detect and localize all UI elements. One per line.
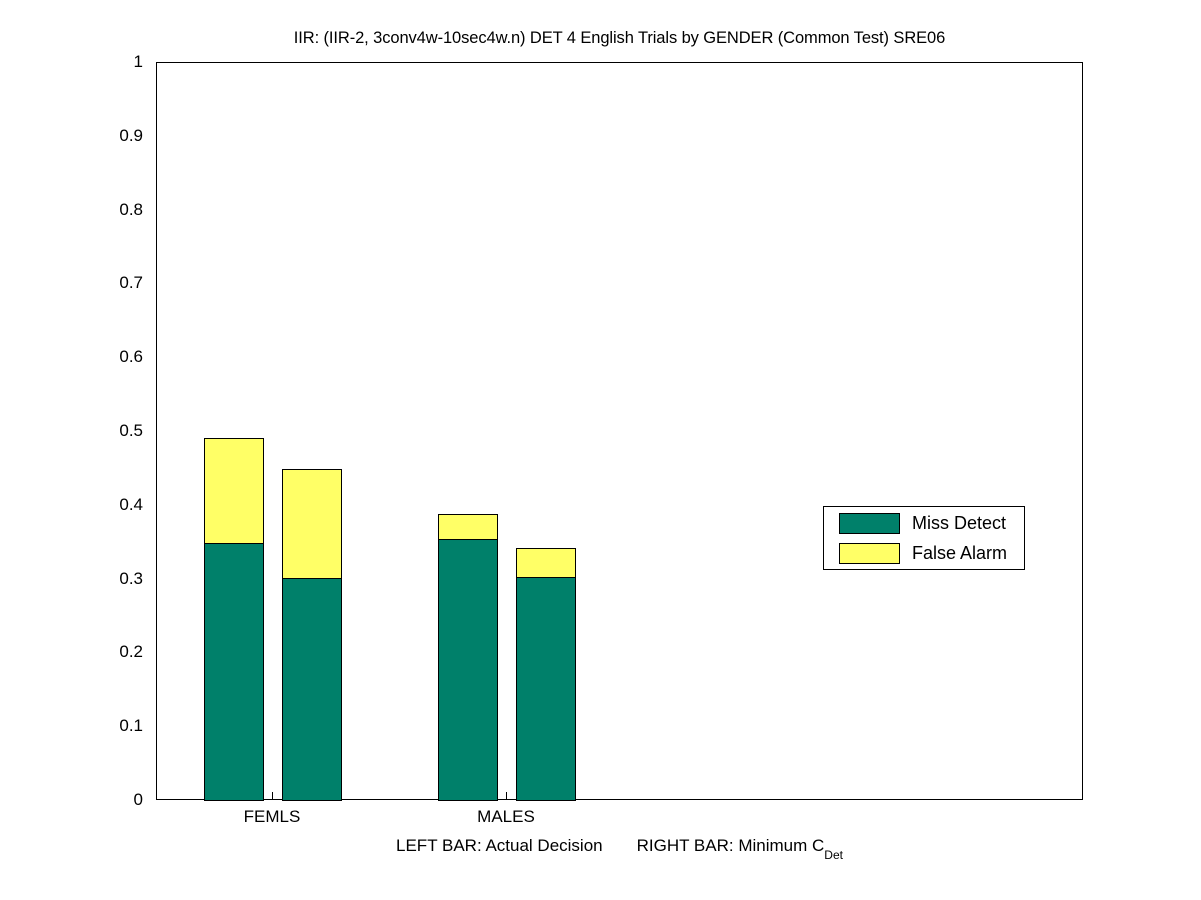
bar-femls-minimum [282,63,342,801]
legend-swatch-miss-detect [839,513,900,534]
x-tick-label-males: MALES [477,806,535,828]
bar-segment-miss-detect [516,576,576,801]
bar-femls-actual [204,63,264,801]
bars-layer [157,63,1082,799]
y-tick-label: 0.1 [119,715,143,736]
legend[interactable]: Miss Detect False Alarm [823,506,1025,570]
bar-males-minimum [516,63,576,801]
bar-segment-miss-detect [204,542,264,801]
y-tick-label: 0.3 [119,568,143,589]
figure-canvas: IIR: (IIR-2, 3conv4w-10sec4w.n) DET 4 En… [0,0,1201,900]
legend-item-false-alarm[interactable]: False Alarm [824,539,1024,567]
footer-left-bar-note: LEFT BAR: Actual Decision [396,836,603,855]
bar-segment-miss-detect [282,577,342,801]
y-tick-label: 0.9 [119,125,143,146]
y-tick-label: 0 [134,789,143,810]
y-tick-label: 0.5 [119,420,143,441]
legend-label-miss-detect: Miss Detect [912,511,1006,535]
plot-area [156,62,1083,800]
y-tick-label: 0.4 [119,494,143,515]
bar-segment-false-alarm [204,438,264,544]
y-tick-label: 0.6 [119,346,143,367]
legend-swatch-false-alarm [839,543,900,564]
y-tick-label: 0.2 [119,641,143,662]
bar-males-actual [438,63,498,801]
x-tick-mark [506,792,507,800]
bar-segment-false-alarm [516,548,576,578]
chart-title: IIR: (IIR-2, 3conv4w-10sec4w.n) DET 4 En… [156,29,1083,48]
x-tick-mark [272,792,273,800]
footer-caption: LEFT BAR: Actual DecisionRIGHT BAR: Mini… [156,834,1083,863]
bar-segment-false-alarm [282,469,342,579]
footer-right-bar-subscript: Det [824,848,843,862]
y-tick-label: 0.8 [119,199,143,220]
legend-item-miss-detect[interactable]: Miss Detect [824,509,1024,537]
bar-segment-miss-detect [438,538,498,801]
footer-right-bar-note: RIGHT BAR: Minimum C [637,836,825,855]
bar-segment-false-alarm [438,514,498,540]
y-tick-label: 0.7 [119,272,143,293]
x-tick-label-femls: FEMLS [244,806,301,828]
y-tick-label: 1 [134,51,143,72]
legend-label-false-alarm: False Alarm [912,541,1007,565]
